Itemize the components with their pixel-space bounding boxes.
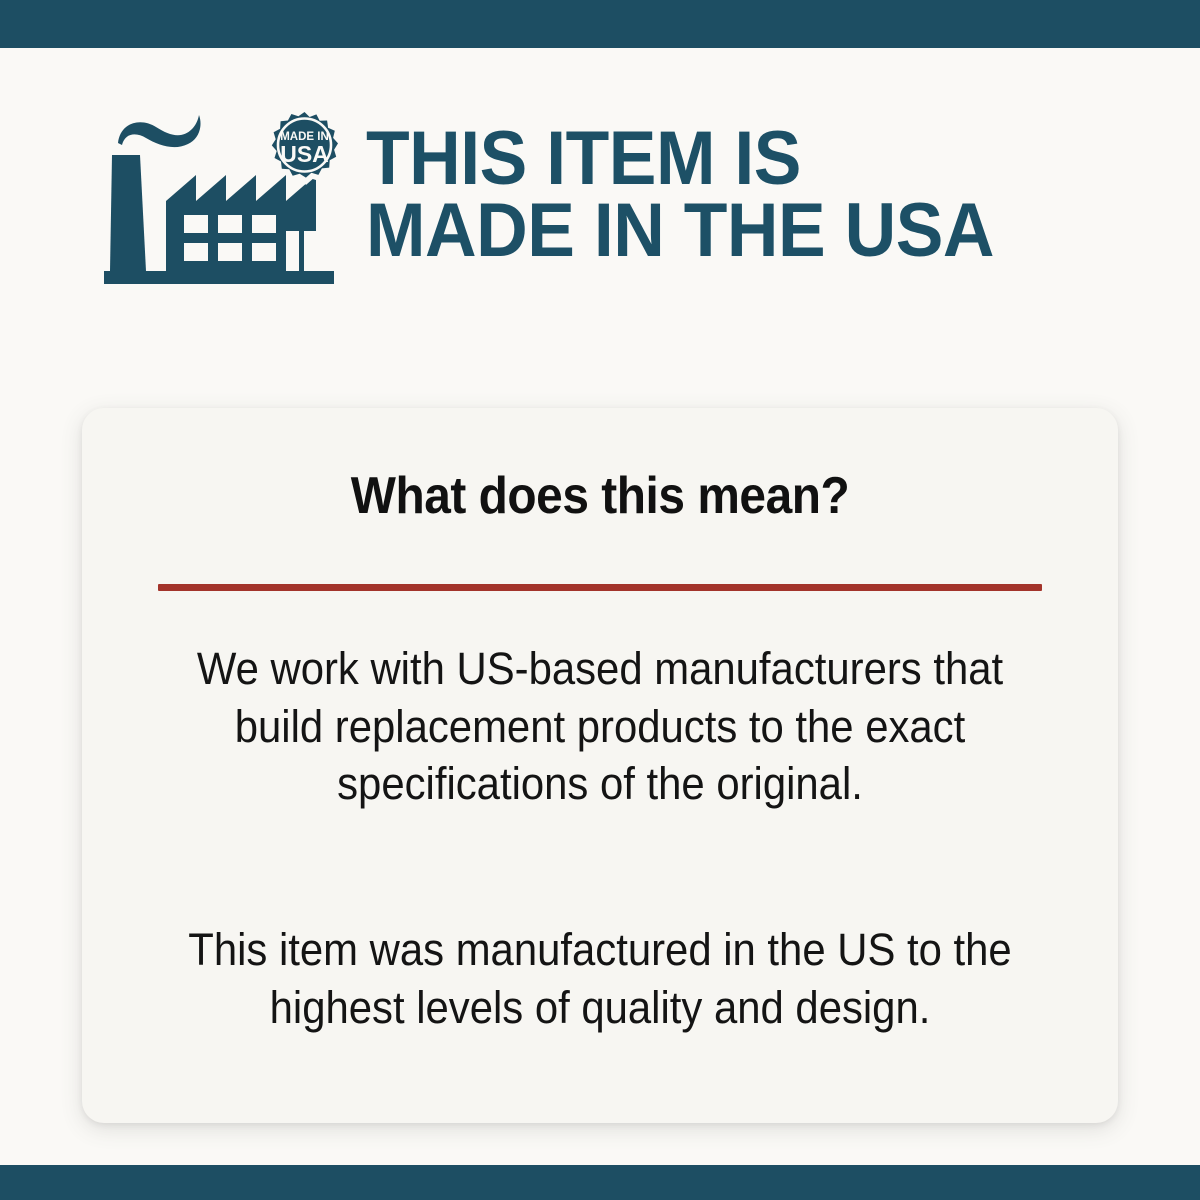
bottom-accent-bar: [0, 1165, 1200, 1200]
card-paragraph-1: We work with US-based manufacturers that…: [150, 640, 1050, 813]
info-card: What does this mean? We work with US-bas…: [82, 408, 1118, 1123]
top-accent-bar: [0, 0, 1200, 48]
page-title: THIS ITEM IS MADE IN THE USA: [366, 123, 994, 267]
header: MADE IN USA THIS ITEM IS MADE IN THE USA: [100, 100, 1160, 290]
card-heading: What does this mean?: [123, 466, 1076, 526]
badge-line-2: USA: [280, 141, 329, 167]
page-title-line-1: THIS ITEM IS: [366, 123, 994, 195]
page-title-line-2: MADE IN THE USA: [366, 195, 994, 267]
card-paragraph-2: This item was manufactured in the US to …: [150, 921, 1050, 1036]
factory-made-in-usa-icon: MADE IN USA: [100, 103, 338, 288]
page-canvas: MADE IN USA THIS ITEM IS MADE IN THE USA…: [0, 48, 1200, 1165]
divider: [158, 584, 1042, 591]
